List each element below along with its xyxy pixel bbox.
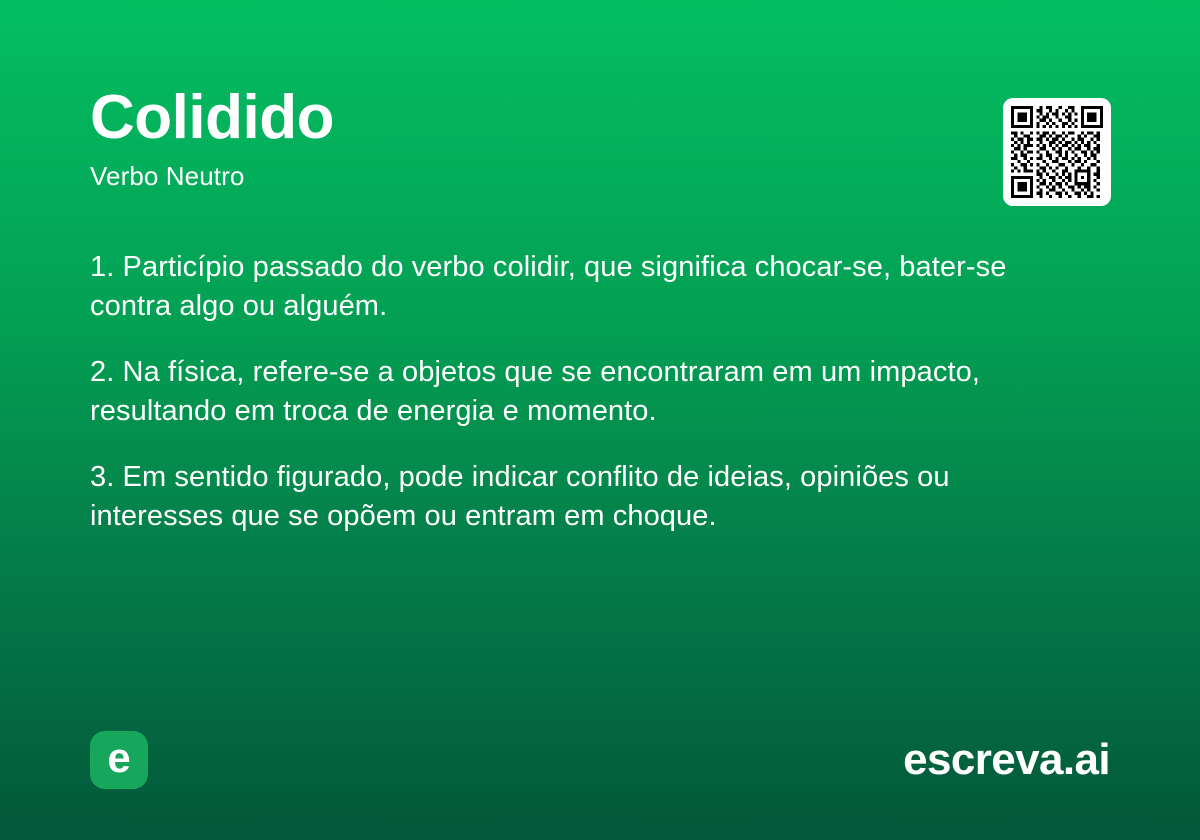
definition-item: 2. Na física, refere-se a objetos que se… [90,353,1080,431]
definition-item: 3. Em sentido figurado, pode indicar con… [90,458,1080,536]
escreva-logo-icon: e [90,731,148,789]
brand-wordmark: escreva.ai [903,735,1110,785]
definition-card: Colidido Verbo Neutro [0,0,1200,840]
word-class-label: Verbo Neutro [90,160,1110,192]
page-title: Colidido [90,84,1110,152]
qr-code-icon [1011,106,1103,198]
card-header: Colidido Verbo Neutro [90,84,1110,192]
qr-code[interactable] [1003,98,1111,206]
definition-list: 1. Particípio passado do verbo colidir, … [90,248,1090,536]
logo-letter: e [107,737,130,779]
definition-item: 1. Particípio passado do verbo colidir, … [90,248,1080,326]
card-footer: e escreva.ai [90,730,1110,790]
